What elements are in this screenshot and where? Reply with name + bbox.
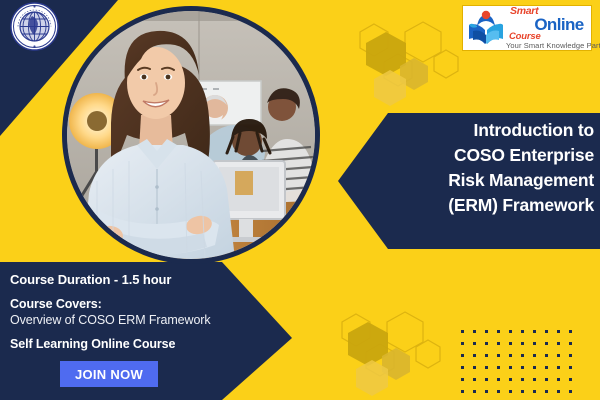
course-duration: Course Duration - 1.5 hour — [10, 272, 260, 287]
dot — [569, 378, 572, 381]
dot — [521, 366, 524, 369]
dot — [557, 354, 560, 357]
dot — [473, 378, 476, 381]
open-book-person-icon — [466, 9, 506, 47]
dot — [509, 342, 512, 345]
dot — [545, 330, 548, 333]
dot — [545, 378, 548, 381]
dot — [461, 330, 464, 333]
dot-grid-decoration — [461, 330, 581, 400]
dot — [557, 390, 560, 393]
dot — [545, 390, 548, 393]
dot — [485, 378, 488, 381]
dot — [533, 366, 536, 369]
dot — [533, 378, 536, 381]
globe-seal-icon — [10, 2, 59, 51]
brand-course-text: Course — [509, 32, 541, 42]
dot — [473, 366, 476, 369]
hexagon-cluster-bottom-svg — [330, 308, 442, 400]
dot — [509, 330, 512, 333]
dot — [461, 378, 464, 381]
dot — [569, 342, 572, 345]
course-promo-poster: Smart Online Course Your Smart Knowledge… — [0, 0, 600, 400]
brand-wordmark: Smart Online Course Your Smart Knowledge… — [506, 6, 600, 50]
dot — [557, 378, 560, 381]
dot — [509, 378, 512, 381]
dot — [569, 366, 572, 369]
dot — [557, 366, 560, 369]
dot — [461, 354, 464, 357]
course-info-block: Course Duration - 1.5 hour Course Covers… — [10, 272, 260, 351]
dot — [509, 366, 512, 369]
dot — [461, 366, 464, 369]
dot — [557, 330, 560, 333]
dot — [473, 354, 476, 357]
dot — [497, 378, 500, 381]
dot — [461, 390, 464, 393]
dot — [545, 366, 548, 369]
brand-logo: Smart Online Course Your Smart Knowledge… — [462, 5, 592, 51]
hero-photo — [67, 11, 315, 259]
dot — [545, 354, 548, 357]
dot — [557, 342, 560, 345]
course-title-line-1: Introduction to — [390, 118, 594, 143]
course-covers-item: Overview of COSO ERM Framework — [10, 313, 260, 327]
hexagon-cluster-top-svg — [348, 18, 460, 114]
dot — [473, 390, 476, 393]
dot — [569, 390, 572, 393]
course-title-line-3: Risk Management — [390, 168, 594, 193]
course-title: Introduction to COSO Enterprise Risk Man… — [390, 118, 594, 218]
course-title-line-2: COSO Enterprise — [390, 143, 594, 168]
dot — [485, 342, 488, 345]
dot — [497, 330, 500, 333]
institution-seal-logo — [10, 2, 59, 51]
brand-tagline: Your Smart Knowledge Partner — [506, 42, 600, 50]
course-title-line-4: (ERM) Framework — [390, 193, 594, 218]
dot — [461, 342, 464, 345]
hero-photo-circle — [62, 6, 320, 264]
self-learning-label: Self Learning Online Course — [10, 337, 260, 351]
dot — [521, 330, 524, 333]
dot — [497, 354, 500, 357]
dot — [569, 330, 572, 333]
dot — [485, 390, 488, 393]
dot — [509, 354, 512, 357]
dot — [485, 366, 488, 369]
brand-online-text: Online — [534, 16, 583, 33]
dot — [485, 330, 488, 333]
dot — [521, 390, 524, 393]
dot — [473, 342, 476, 345]
dot — [521, 354, 524, 357]
dot — [497, 366, 500, 369]
dot — [533, 354, 536, 357]
hexagon-cluster-bottom — [330, 308, 442, 400]
dot — [545, 342, 548, 345]
join-now-button[interactable]: JOIN NOW — [60, 361, 158, 387]
dot — [521, 378, 524, 381]
dot — [533, 390, 536, 393]
dot — [473, 330, 476, 333]
dot — [497, 342, 500, 345]
office-scene-illustration — [67, 11, 315, 259]
course-covers-label: Course Covers: — [10, 297, 260, 311]
dot — [509, 390, 512, 393]
hexagon-cluster-top — [348, 18, 460, 114]
dot — [569, 354, 572, 357]
dot — [521, 342, 524, 345]
dot — [485, 354, 488, 357]
dot — [533, 342, 536, 345]
dot — [533, 330, 536, 333]
dot — [497, 390, 500, 393]
